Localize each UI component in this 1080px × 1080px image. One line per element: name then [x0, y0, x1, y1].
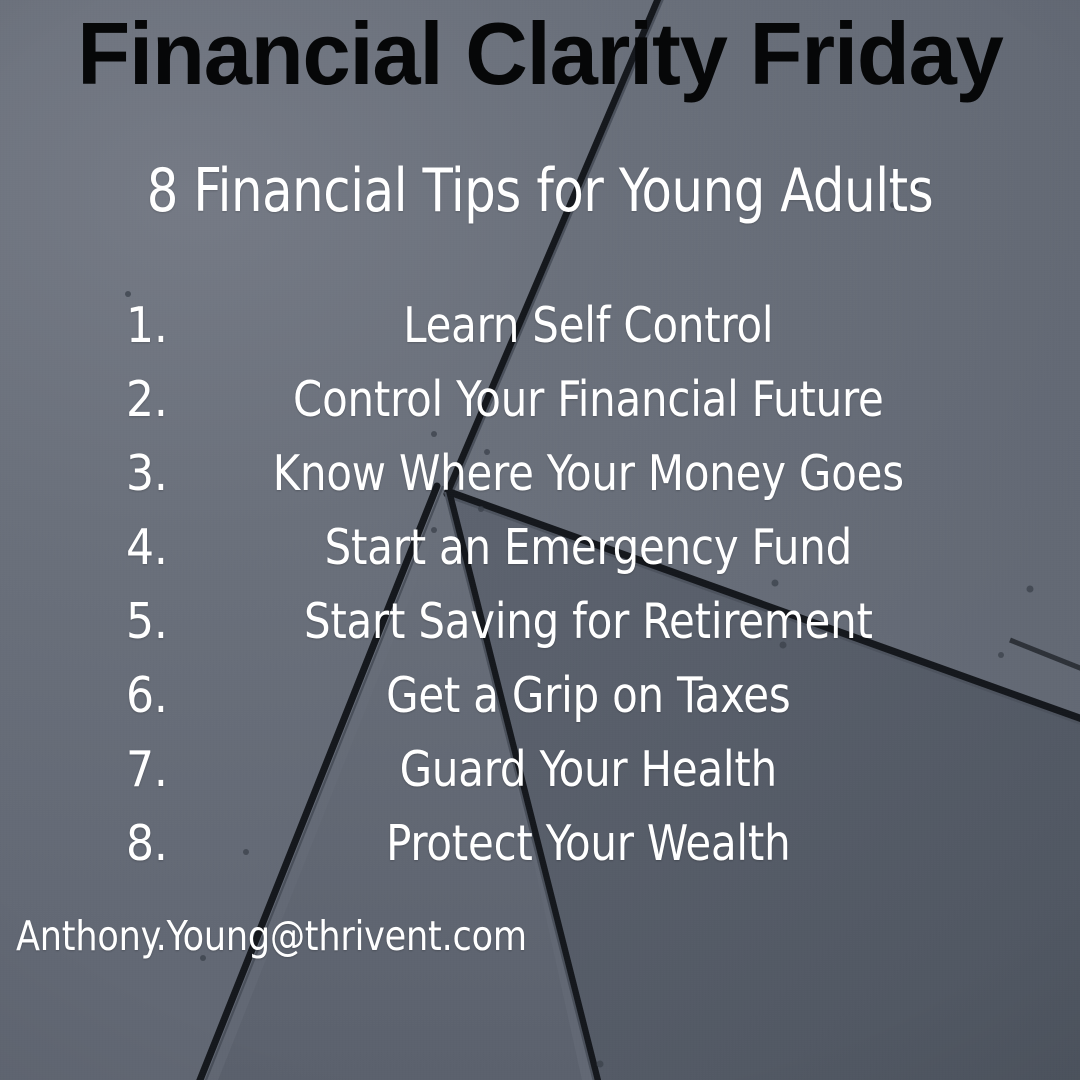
poster-subtitle: 8 Financial Tips for Young Adults: [43, 158, 1037, 224]
tip-number: 7.: [126, 745, 184, 794]
tip-text: Protect Your Wealth: [206, 819, 1057, 868]
list-item: 1. Learn Self Control: [0, 288, 1080, 362]
list-item: 6. Get a Grip on Taxes: [0, 658, 1080, 732]
list-item: 3. Know Where Your Money Goes: [0, 436, 1080, 510]
tip-number: 6.: [126, 671, 184, 720]
tip-number: 5.: [126, 597, 184, 646]
tips-list: 1. Learn Self Control 2. Control Your Fi…: [0, 288, 1080, 880]
poster-canvas: Financial Clarity Friday 8 Financial Tip…: [0, 0, 1080, 1080]
poster-content: Financial Clarity Friday 8 Financial Tip…: [0, 0, 1080, 1080]
poster-title: Financial Clarity Friday: [8, 8, 1072, 100]
tip-text: Know Where Your Money Goes: [206, 449, 1057, 498]
list-item: 4. Start an Emergency Fund: [0, 510, 1080, 584]
list-item: 8. Protect Your Wealth: [0, 806, 1080, 880]
tip-text: Start an Emergency Fund: [206, 523, 1057, 572]
tip-number: 2.: [126, 375, 184, 424]
tip-number: 3.: [126, 449, 184, 498]
tip-text: Start Saving for Retirement: [206, 597, 1057, 646]
list-item: 7. Guard Your Health: [0, 732, 1080, 806]
tip-text: Get a Grip on Taxes: [206, 671, 1057, 720]
tip-text: Learn Self Control: [206, 301, 1057, 350]
tip-number: 8.: [126, 819, 184, 868]
list-item: 5. Start Saving for Retirement: [0, 584, 1080, 658]
list-item: 2. Control Your Financial Future: [0, 362, 1080, 436]
contact-email[interactable]: Anthony.Young@thrivent.com: [16, 916, 527, 957]
tip-text: Guard Your Health: [206, 745, 1057, 794]
tip-number: 1.: [126, 301, 184, 350]
tip-text: Control Your Financial Future: [206, 375, 1057, 424]
tip-number: 4.: [126, 523, 184, 572]
